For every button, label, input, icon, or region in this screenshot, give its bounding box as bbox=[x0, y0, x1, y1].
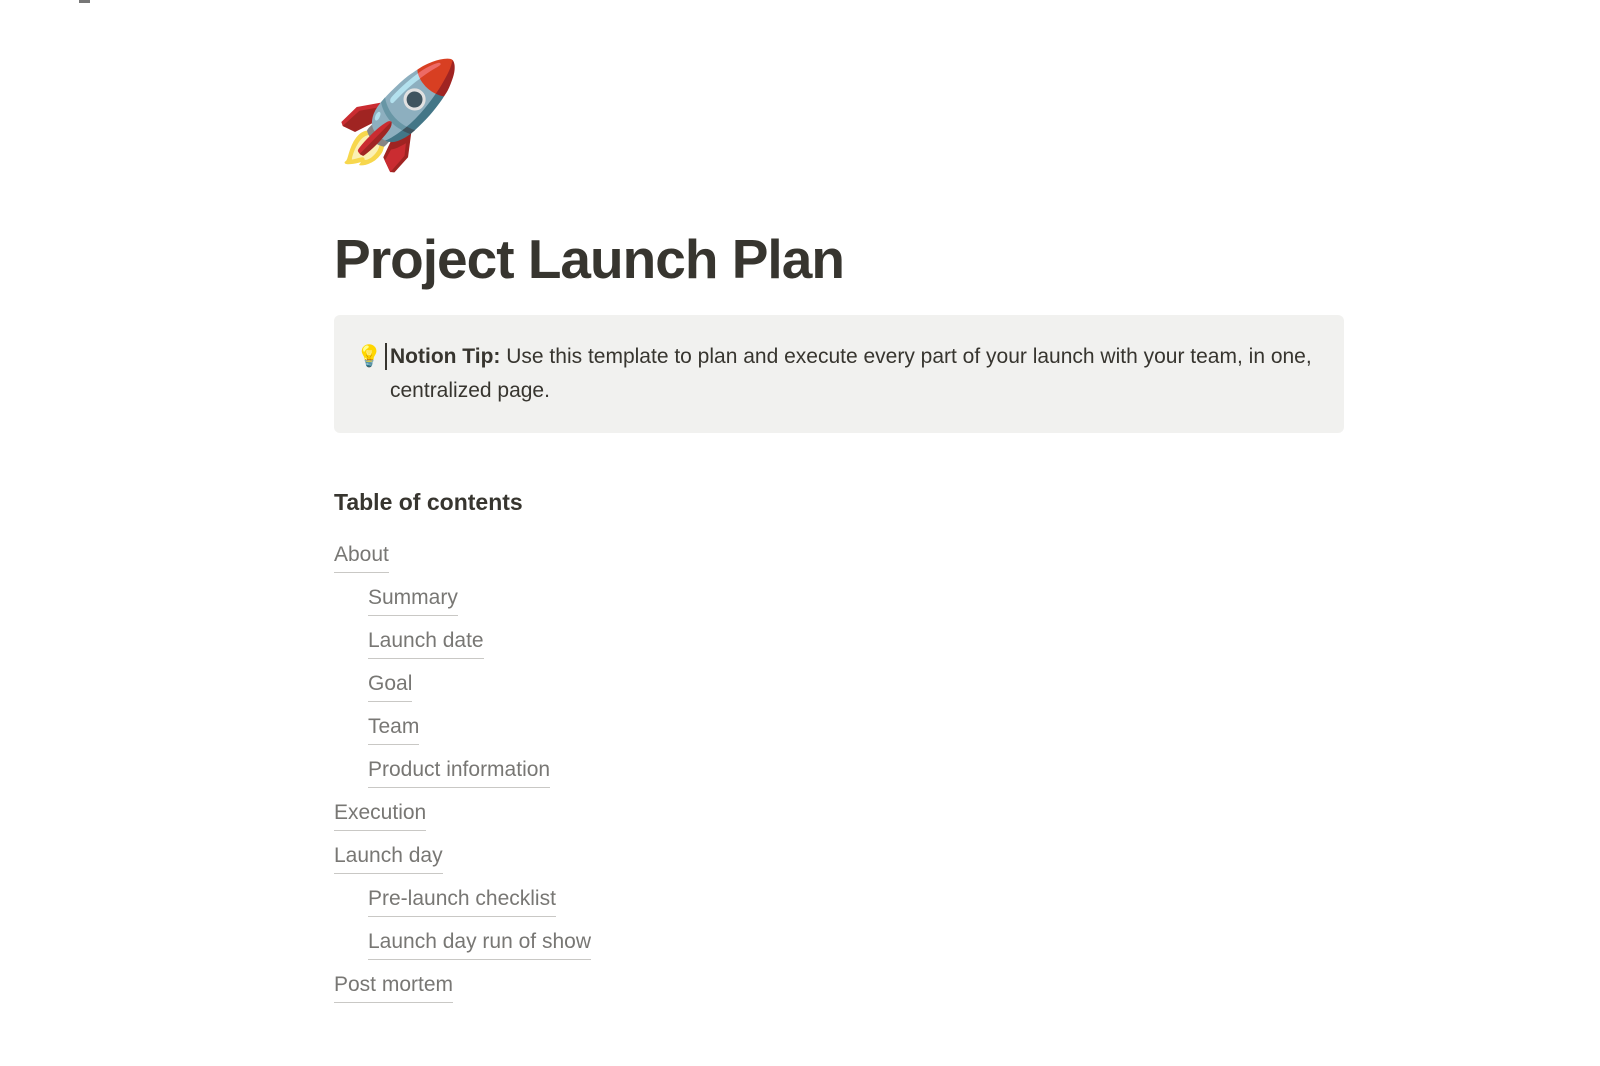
toc-link-launch-day[interactable]: Launch day bbox=[334, 841, 443, 874]
callout-label: Notion Tip: bbox=[390, 345, 500, 368]
callout-block[interactable]: 💡 Notion Tip: Use this template to plan … bbox=[334, 315, 1344, 433]
notion-page: 🚀 Project Launch Plan 💡 Notion Tip: Use … bbox=[0, 0, 1600, 1066]
clipped-top-artifact bbox=[79, 0, 90, 3]
toc-link-goal[interactable]: Goal bbox=[368, 669, 412, 702]
callout-description: Use this template to plan and execute ev… bbox=[390, 345, 1312, 402]
toc-item[interactable]: Launch date bbox=[334, 624, 1034, 667]
toc-item[interactable]: Launch day run of show bbox=[334, 925, 1034, 968]
toc-link-product-information[interactable]: Product information bbox=[368, 755, 550, 788]
toc-item[interactable]: Summary bbox=[334, 581, 1034, 624]
page-title[interactable]: Project Launch Plan bbox=[334, 226, 844, 292]
toc-item[interactable]: Launch day bbox=[334, 839, 1034, 882]
toc-link-execution[interactable]: Execution bbox=[334, 798, 426, 831]
toc-link-launch-day-run-of-show[interactable]: Launch day run of show bbox=[368, 927, 591, 960]
toc-link-team[interactable]: Team bbox=[368, 712, 419, 745]
rocket-emoji-icon[interactable]: 🚀 bbox=[334, 56, 452, 174]
callout-text[interactable]: Notion Tip: Use this template to plan an… bbox=[386, 340, 1314, 408]
light-bulb-icon[interactable]: 💡 bbox=[356, 340, 386, 373]
toc-item[interactable]: Post mortem bbox=[334, 968, 1034, 1011]
toc-item[interactable]: Pre-launch checklist bbox=[334, 882, 1034, 925]
toc-link-about[interactable]: About bbox=[334, 540, 389, 573]
table-of-contents: AboutSummaryLaunch dateGoalTeamProduct i… bbox=[334, 538, 1034, 1011]
toc-item[interactable]: Execution bbox=[334, 796, 1034, 839]
toc-item[interactable]: Product information bbox=[334, 753, 1034, 796]
toc-link-launch-date[interactable]: Launch date bbox=[368, 626, 484, 659]
toc-link-pre-launch-checklist[interactable]: Pre-launch checklist bbox=[368, 884, 556, 917]
toc-item[interactable]: Team bbox=[334, 710, 1034, 753]
toc-link-summary[interactable]: Summary bbox=[368, 583, 458, 616]
toc-item[interactable]: About bbox=[334, 538, 1034, 581]
toc-item[interactable]: Goal bbox=[334, 667, 1034, 710]
toc-link-post-mortem[interactable]: Post mortem bbox=[334, 970, 453, 1003]
table-of-contents-heading: Table of contents bbox=[334, 487, 523, 517]
